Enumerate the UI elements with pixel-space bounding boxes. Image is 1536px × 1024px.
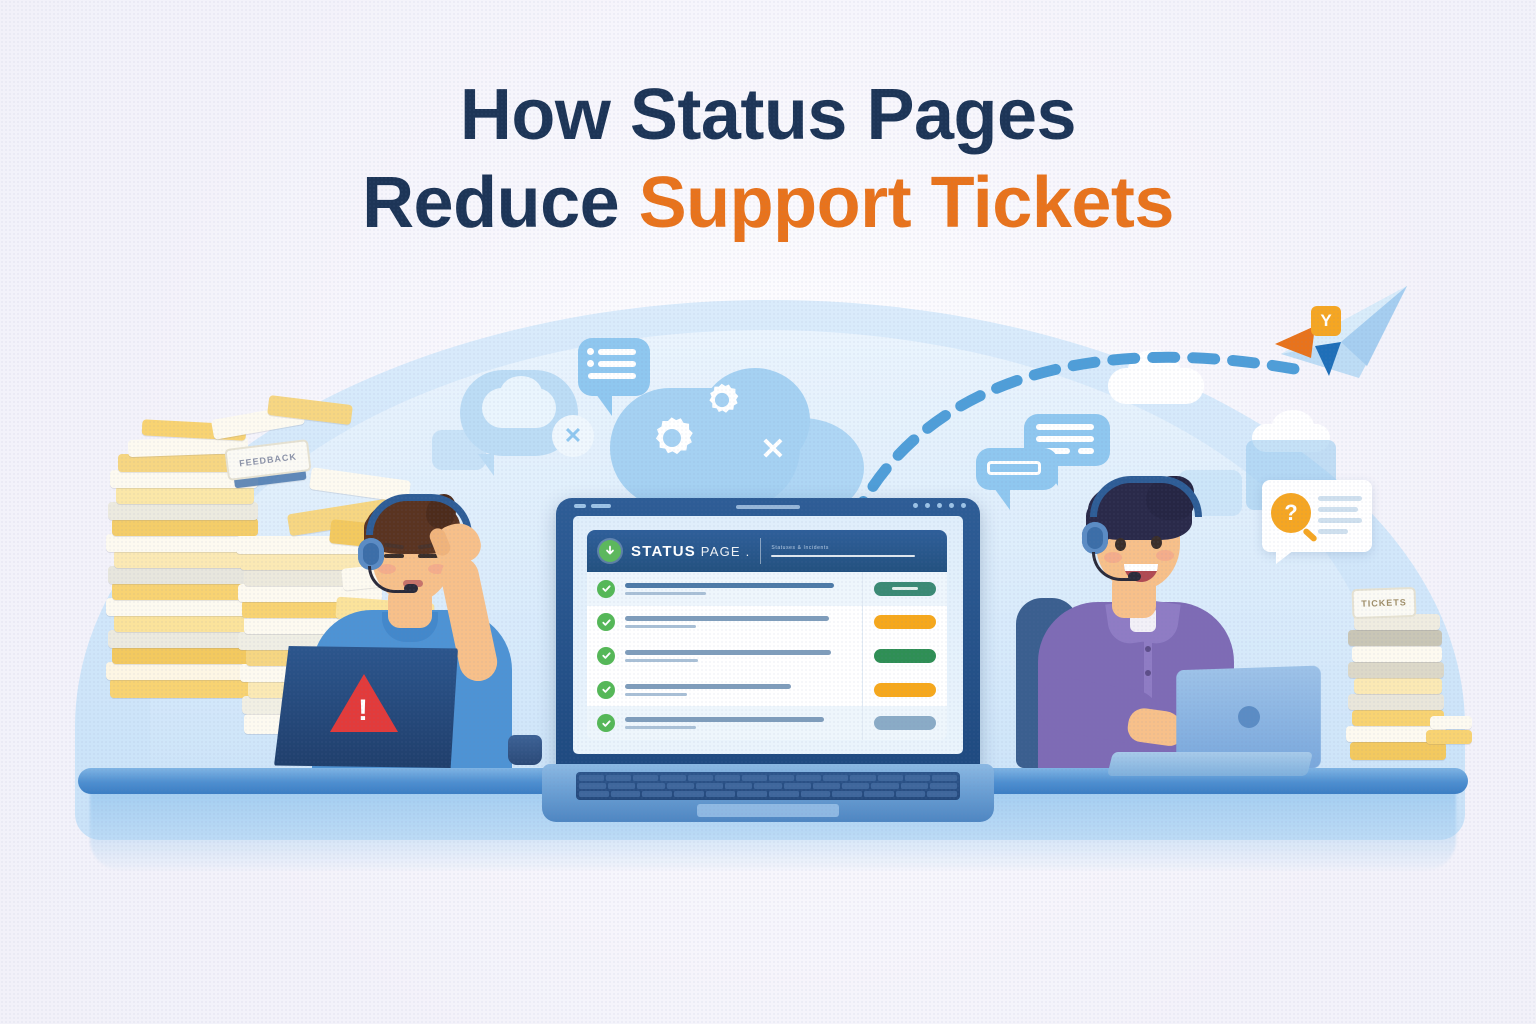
laptop-camera-bar [736,505,800,509]
agent-right-eye-r [1151,536,1162,549]
gear-icon-large [644,410,700,466]
tickets-label-card: TICKETS [1351,587,1416,619]
agent-left-eye-l [384,554,404,558]
title-line-2: Reduce Support Tickets [0,166,1536,240]
agent-right-mic-boom [1092,552,1133,581]
laptop-trackpad[interactable] [697,804,839,817]
status-page-header: STATUS PAGE . Statuses & Incidents [587,530,947,572]
status-badge [874,582,936,596]
illustration-canvas: How Status Pages Reduce Support Tickets … [0,0,1536,1024]
laptop-keyboard[interactable] [576,772,960,800]
status-badge [874,649,936,663]
status-page-meta-rule [771,555,915,557]
laptop-bezel-left-marks [574,504,611,508]
laptop-base [542,764,994,822]
paper-plane-badge: Y [1311,306,1341,336]
status-page-title: STATUS PAGE . [631,543,750,560]
check-circle-icon [597,613,615,631]
agent-right-button-1 [1145,646,1151,652]
status-page-title-soft: PAGE . [696,544,750,559]
status-page-header-divider [760,538,761,564]
laptop-bezel-dots [913,503,966,508]
laptop-lid: STATUS PAGE . Statuses & Incidents [556,498,980,770]
status-page-rows [587,572,947,740]
tickets-stack: TICKETS [1330,580,1480,770]
status-badge [874,716,936,730]
agent-right-laptop-logo [1238,706,1260,728]
status-badge [874,683,936,697]
agent-right-eye-l [1115,538,1126,551]
status-page-meta: Statuses & Incidents [771,545,935,557]
row-status-cell [862,606,947,640]
agent-right-laptop [1100,668,1320,780]
check-circle-icon [597,647,615,665]
table-row[interactable] [587,706,947,740]
row-status-cell [862,706,947,740]
paper-plane-icon: Y [1275,280,1425,390]
faq-card-text-lines [1318,496,1362,540]
agent-right-blush-r [1156,550,1174,561]
agent-right-mic-tip [1128,572,1141,581]
status-page-laptop: STATUS PAGE . Statuses & Incidents [556,498,980,828]
status-page-title-strong: STATUS [631,543,696,560]
table-row[interactable] [587,673,947,707]
agent-left-mic-boom [368,566,409,593]
row-status-cell [862,639,947,673]
status-badge [874,615,936,629]
status-page-meta-text: Statuses & Incidents [771,545,935,551]
agent-left-laptop: ! [268,646,464,774]
check-circle-icon [597,580,615,598]
title-line-1: How Status Pages [0,78,1536,152]
error-x-icon-left: ✕ [552,415,594,457]
pale-chat-left [432,430,486,470]
row-label-lines [625,717,862,729]
laptop-screen[interactable]: STATUS PAGE . Statuses & Incidents [573,516,963,754]
row-label-lines [625,684,862,696]
agent-left-mic-tip [404,584,418,593]
gear-icon-small [700,378,744,422]
download-arrow-icon [599,540,621,562]
row-label-lines [625,583,862,595]
row-label-lines [625,616,862,628]
row-status-cell [862,572,947,606]
check-circle-icon [597,681,615,699]
title-line-2-orange: Support Tickets [639,163,1174,243]
agent-left-mouse [508,735,542,765]
page-title: How Status Pages Reduce Support Tickets [0,78,1536,240]
warning-exclamation-glyph: ! [358,696,368,726]
table-row[interactable] [587,639,947,673]
agent-left-eye-r [418,554,438,558]
row-label-lines [625,650,862,662]
table-row[interactable] [587,572,947,606]
agent-right-laptop-base [1107,752,1313,776]
row-status-cell [862,673,947,707]
table-row[interactable] [587,606,947,640]
agent-right-earcup [1082,522,1108,554]
error-x-icon-gearcloud: ✕ [752,428,794,470]
check-circle-icon [597,714,615,732]
title-line-2-navy: Reduce [362,163,639,243]
chat-bubble-top [578,338,650,396]
